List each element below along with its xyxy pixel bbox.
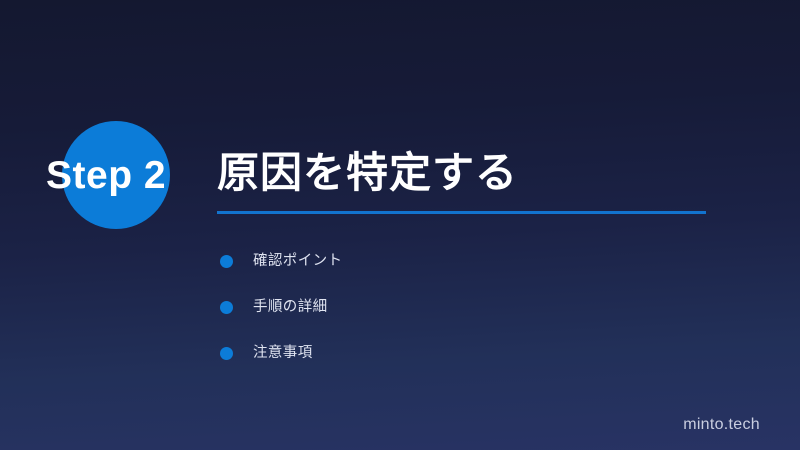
bullet-list: 確認ポイント 手順の詳細 注意事項	[220, 238, 342, 376]
list-item: 手順の詳細	[220, 284, 342, 330]
list-item-label: 手順の詳細	[253, 297, 328, 317]
list-item: 確認ポイント	[220, 238, 342, 284]
slide-canvas: Step 2 原因を特定する 確認ポイント 手順の詳細 注意事項 minto.t…	[0, 0, 800, 450]
list-item-label: 注意事項	[253, 343, 313, 363]
footer-brand: minto.tech	[683, 416, 760, 434]
title-divider	[217, 211, 706, 214]
step-badge-label: Step 2	[46, 153, 216, 199]
list-item-label: 確認ポイント	[253, 251, 342, 271]
page-title: 原因を特定する	[217, 147, 518, 199]
bullet-dot-icon	[220, 347, 233, 360]
bullet-dot-icon	[220, 301, 233, 314]
bullet-dot-icon	[220, 255, 233, 268]
list-item: 注意事項	[220, 330, 342, 376]
